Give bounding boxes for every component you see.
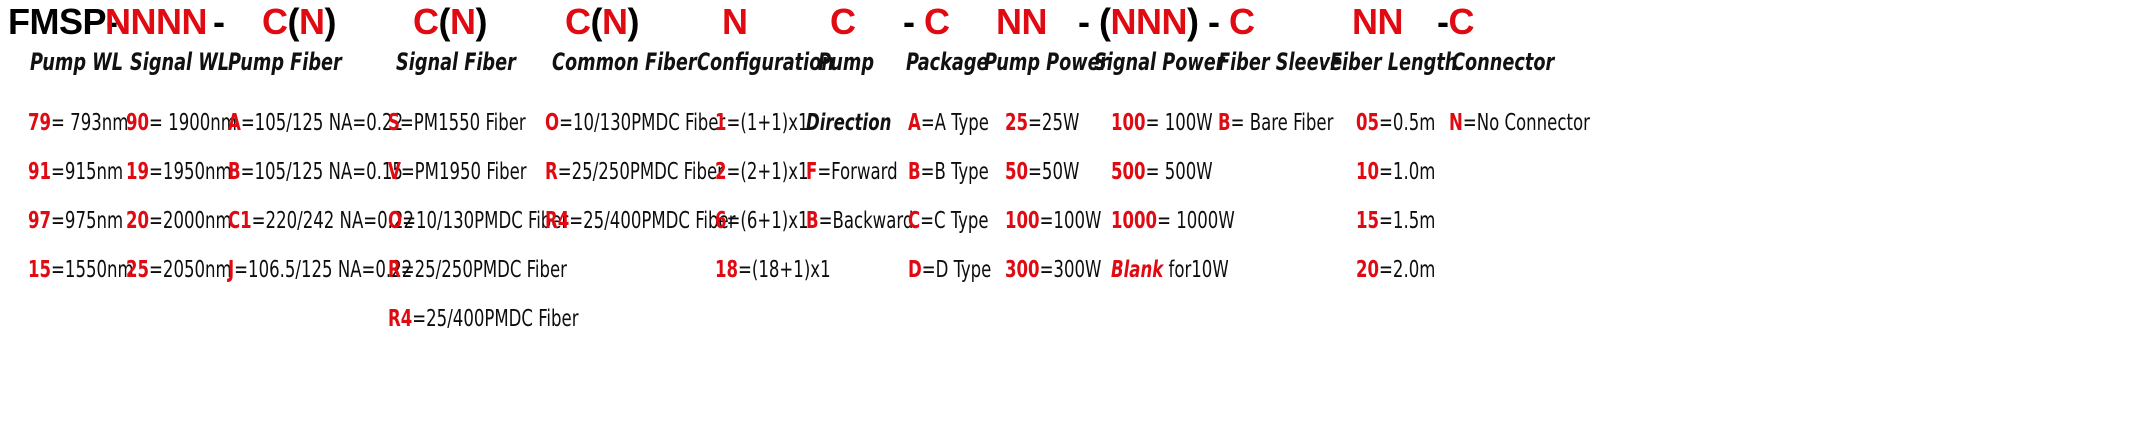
column-header-pump-power: Pump Power (984, 50, 1108, 74)
column-header-pump-wl: Pump WL (30, 50, 123, 74)
option-fiber-length-4: 20=2.0m (1356, 259, 1435, 282)
option-configuration-3: 6=(6+1)x1 (715, 210, 809, 233)
code-token-signal-fiber-code: C(N) (413, 4, 487, 40)
option-configuration-2: 2=(2+1)x1 (715, 161, 809, 184)
option-pump-direction-2: F=Forward (806, 161, 898, 184)
option-pump-power-3: 100=100W (1005, 210, 1101, 233)
option-configuration-1: 1=(1+1)x1 (715, 112, 809, 135)
option-pump-direction-3: B=Backward (806, 210, 913, 233)
code-token-package-code: - C (903, 4, 950, 40)
column-header-signal-fiber: Signal Fiber (396, 50, 516, 74)
option-common-fiber-1: O=10/130PMDC Fiber (545, 112, 725, 135)
code-token-pump-direction-code: C (830, 4, 856, 40)
code-token-prefix: FMSP- (8, 4, 118, 40)
option-signal-fiber-2: V=PM1950 Fiber (388, 161, 527, 184)
column-header-signal-power: Signal Power (1094, 50, 1225, 74)
option-signal-fiber-5: R4=25/400PMDC Fiber (388, 308, 579, 331)
option-pump-direction-1: Direction (806, 112, 891, 135)
code-token-fiber-length-code: NN (1352, 4, 1403, 40)
column-header-common-fiber: Common Fiber (552, 50, 697, 74)
option-signal-power-2: 500= 500W (1111, 161, 1213, 184)
option-signal-power-4: Blank for10W (1111, 259, 1229, 282)
option-connector-1: N=No Connector (1449, 112, 1590, 135)
option-signal-fiber-4: R=25/250PMDC Fiber (388, 259, 567, 282)
option-pump-fiber-4: J=106.5/125 NA=0.22 (228, 259, 412, 282)
option-pump-wl-3: 97=975nm (28, 210, 123, 233)
option-pump-power-1: 25=25W (1005, 112, 1079, 135)
option-signal-fiber-1: S=PM1550 Fiber (388, 112, 526, 135)
column-header-pump-fiber: Pump Fiber (228, 50, 342, 74)
option-common-fiber-3: R4=25/400PMDC Fiber (545, 210, 736, 233)
option-signal-wl-1: 90= 1900nm (126, 112, 237, 135)
option-package-1: A=A Type (908, 112, 989, 135)
option-pump-fiber-3: C1=220/242 NA=0.22 (228, 210, 414, 233)
code-token-signal-power-code: - (NNN) - C (1078, 4, 1255, 40)
code-token-pump-wl-code: NN (105, 4, 156, 40)
option-package-3: C=C Type (908, 210, 989, 233)
option-fiber-length-2: 10=1.0m (1356, 161, 1435, 184)
option-package-4: D=D Type (908, 259, 991, 282)
option-fiber-sleeve-1: B= Bare Fiber (1218, 112, 1333, 135)
column-header-pump-direction: Pump (818, 50, 874, 74)
code-token-configuration-code: N (722, 4, 748, 40)
option-signal-power-1: 100= 100W (1111, 112, 1213, 135)
option-package-2: B=B Type (908, 161, 989, 184)
option-pump-fiber-1: A=105/125 NA=0.22 (228, 112, 403, 135)
option-signal-power-3: 1000= 1000W (1111, 210, 1235, 233)
option-signal-fiber-3: O=10/130PMDC Fiber (388, 210, 568, 233)
code-token-signal-wl-code: NN (156, 4, 207, 40)
option-pump-fiber-2: B=105/125 NA=0.15 (228, 161, 403, 184)
code-token-connector-code: -C (1437, 4, 1474, 40)
part-number-designation-sheet: FMSP-NNNN-C(N)C(N)C(N)NC- CNN- (NNN) - C… (0, 0, 2139, 427)
column-header-configuration: Configuration (697, 50, 834, 74)
option-pump-power-4: 300=300W (1005, 259, 1101, 282)
option-fiber-length-1: 05=0.5m (1356, 112, 1435, 135)
code-token-dash-1: - (213, 4, 225, 40)
code-token-common-fiber-code: C(N) (565, 4, 639, 40)
code-token-pump-fiber-code: C(N) (262, 4, 336, 40)
option-pump-wl-4: 15=1550nm (28, 259, 134, 282)
column-header-connector: Connector (1452, 50, 1554, 74)
option-signal-wl-2: 19=1950nm (126, 161, 232, 184)
option-signal-wl-3: 20=2000nm (126, 210, 232, 233)
option-pump-power-2: 50=50W (1005, 161, 1079, 184)
option-common-fiber-2: R=25/250PMDC Fiber (545, 161, 724, 184)
option-signal-wl-4: 25=2050nm (126, 259, 232, 282)
option-fiber-length-3: 15=1.5m (1356, 210, 1435, 233)
option-pump-wl-2: 91=915nm (28, 161, 123, 184)
column-header-fiber-length: Fiber Length (1330, 50, 1457, 74)
option-configuration-4: 18=(18+1)x1 (715, 259, 831, 282)
column-header-package: Package (906, 50, 989, 74)
option-pump-wl-1: 79= 793nm (28, 112, 128, 135)
column-header-fiber-sleeve: Fiber Sleeve (1218, 50, 1342, 74)
column-header-signal-wl: Signal WL (130, 50, 229, 74)
code-token-pump-power-code: NN (996, 4, 1047, 40)
